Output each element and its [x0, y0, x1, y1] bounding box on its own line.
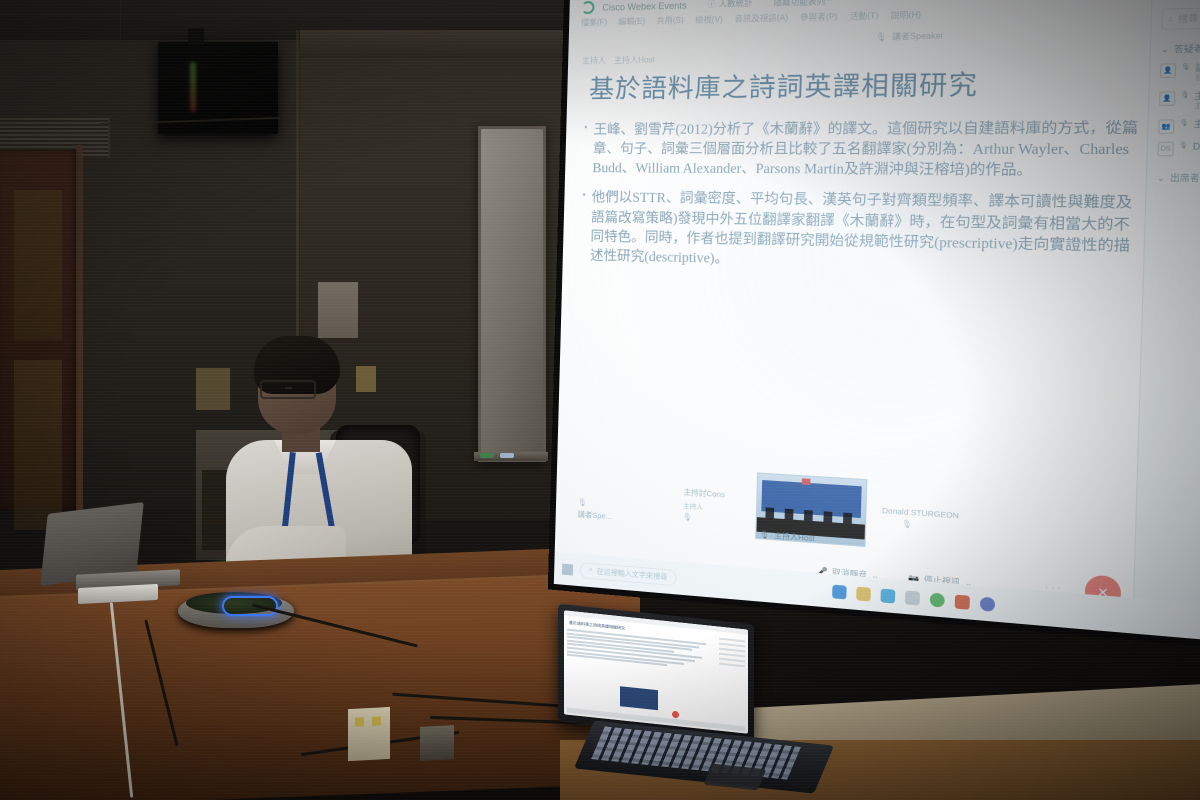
thumb-mic-icon: 🎙 — [682, 512, 724, 524]
participant-search-placeholder: 搜尋 — [1178, 12, 1198, 25]
wall-power-socket[interactable] — [348, 707, 390, 761]
participant-row-host[interactable]: 👥 🎙 主持人Host — [1158, 119, 1200, 134]
powerpoint-icon[interactable] — [955, 594, 970, 609]
host-name: 主持人Host — [614, 54, 655, 66]
webex-host-line: 主持人 主持人Host — [582, 54, 655, 66]
menu-share[interactable]: 共用(S) — [656, 15, 684, 27]
presentation-slide: 基於語料庫之詩詞英譯相關研究 • 王峰、劉雪芹(2012)分析了《木蘭辭》的譯文… — [573, 61, 1147, 504]
menu-event[interactable]: 活動(T) — [849, 10, 878, 22]
projection-screen: Cisco Webex Events ⓘ 人數統計 隱藏功能表列 ^ 檔案(F)… — [548, 0, 1200, 653]
attendees-label: 出席者 — [1170, 172, 1200, 185]
chrome-icon[interactable] — [930, 592, 945, 607]
door-panel-upper — [14, 190, 62, 340]
panelists-label: 答疑者 — [1174, 43, 1200, 56]
whiteboard-marker-blue[interactable] — [500, 453, 514, 458]
person-icon: 👤 — [1160, 63, 1176, 78]
foreground-laptop[interactable]: 基於語料庫之詩詞英譯相關研究 — [558, 614, 878, 784]
participant-row-cons[interactable]: 👤 🎙 主持討Cons 主持人 — [1159, 90, 1200, 111]
mic-icon: 🎙 — [1179, 120, 1189, 128]
socket-hole-left — [355, 717, 364, 726]
webex-app-title: Cisco Webex Events — [602, 0, 686, 12]
search-icon: ⌕ — [1168, 13, 1174, 24]
video-thumb-cons-label: 主持討Cons — [683, 486, 725, 500]
webex-hide-menubar-chip[interactable]: 隱藏功能表列 ^ — [773, 0, 832, 8]
projected-webex-window: Cisco Webex Events ⓘ 人數統計 隱藏功能表列 ^ 檔案(F)… — [554, 0, 1200, 646]
webex-active-speaker-chip: 🎙 講者Speaker — [875, 30, 944, 43]
mic-icon: 🎙 — [1180, 91, 1190, 99]
participant-search-box[interactable]: ⌕ 搜尋 — [1161, 6, 1200, 30]
menu-help[interactable]: 說明(H) — [891, 9, 922, 21]
menu-audio-video[interactable]: 音訊及視訊(A) — [734, 12, 788, 25]
host-label: 主持人 — [582, 55, 606, 66]
thumb-mic-icon: 🎙 — [902, 519, 959, 533]
slide-bullet-2: • 他們以STTR、詞彙密度、平均句長、漢英句子對齊類型頻率、譯本可讀性與難度及… — [580, 188, 1143, 278]
mic-icon: 🎙 — [1181, 63, 1191, 71]
laptop-mirrored-webex: 基於語料庫之詩詞英譯相關研究 — [564, 610, 748, 733]
edge-icon[interactable] — [832, 584, 847, 599]
slide-bullet-2-text: 他們以STTR、詞彙密度、平均句長、漢英句子對齊類型頻率、譯本可讀性與難度及語篇… — [590, 188, 1143, 278]
webex-logo-icon — [581, 1, 594, 14]
slide-bullet-1: • 王峰、劉雪芹(2012)分析了《木蘭辭》的譯文。這個研究以自建語料庫的方式，… — [583, 117, 1145, 181]
taskbar-search-input[interactable]: ⌕ 在這裡輸入文字來搜尋 — [580, 562, 677, 586]
room-door[interactable] — [0, 150, 78, 510]
video-thumb-donald-label: Donald STURGEON — [882, 506, 959, 521]
video-thumb-cons-sub: 主持人 — [683, 500, 725, 513]
speaker-name: 講者Speaker — [892, 30, 944, 43]
participant-row-donald[interactable]: DS 🎙 Donald STURGEON — [1157, 142, 1200, 157]
participant-name: 講者Speaker — [1195, 62, 1200, 73]
chevron-down-icon: ⌄ — [1157, 173, 1166, 183]
participant-sub: 我 — [1195, 74, 1200, 84]
whiteboard — [478, 126, 546, 462]
file-explorer-icon[interactable] — [856, 586, 871, 601]
participant-row-speaker[interactable]: 👤 🎙 講者Speaker 我 — [1160, 62, 1200, 84]
mail-icon[interactable] — [880, 588, 895, 603]
video-thumb-donald[interactable]: Donald STURGEON 🎙 — [882, 506, 960, 533]
person-icon: 👥 — [1158, 120, 1174, 135]
bullet-dot-icon: • — [580, 188, 586, 265]
participant-sub: 主持人 — [1194, 102, 1200, 112]
taskbar-pinned-apps — [832, 584, 995, 611]
mic-icon: 🎙 — [875, 32, 887, 42]
screenshot-root: 基於語料庫之詩詞英譯相關研究 — [0, 0, 1200, 800]
thumb-mic-icon: 🎙 — [578, 498, 613, 509]
ceiling-seam — [0, 14, 620, 15]
laptop-participant-rail — [719, 635, 745, 671]
slide-bullet-1-text: 王峰、劉雪芹(2012)分析了《木蘭辭》的譯文。這個研究以自建語料庫的方式，從篇… — [592, 117, 1145, 181]
slide-title: 基於語料庫之詩詞英譯相關研究 — [589, 61, 1147, 105]
socket-hole-right — [372, 716, 381, 725]
laptop-leave-button — [672, 711, 679, 719]
wall-soffit — [300, 30, 600, 58]
mic-icon: 🎙 — [1179, 142, 1189, 150]
wall-notice-sheet — [318, 282, 358, 338]
video-thumb-speaker[interactable]: 🎙 講者Spe... — [577, 498, 612, 523]
menu-edit[interactable]: 編輯(E) — [618, 16, 645, 28]
participant-name: 主持討Cons — [1194, 91, 1200, 102]
bullet-dot-icon: • — [583, 120, 588, 178]
video-thumb-cons[interactable]: 主持討Cons 主持人 🎙 — [682, 486, 725, 524]
laptop-video-thumb — [620, 686, 658, 710]
thumb-mic-icon: 🎙 — [759, 530, 769, 540]
webex-app: Cisco Webex Events ⓘ 人數統計 隱藏功能表列 ^ 檔案(F)… — [554, 0, 1200, 646]
search-icon: ⌕ — [589, 567, 593, 575]
teams-icon[interactable] — [980, 596, 995, 611]
store-icon[interactable] — [905, 590, 920, 605]
panelists-section-header[interactable]: ⌄ 答疑者 ： 4 — [1161, 41, 1200, 56]
speakerphone-led-ring — [222, 596, 278, 616]
attendees-section-header[interactable]: ⌄ 出席者 ： 27 （靜下 0） — [1157, 172, 1200, 185]
panel-footer-note: 使用內容 — [1156, 207, 1200, 220]
windows-start-icon[interactable] — [562, 563, 573, 575]
network-jack[interactable] — [420, 725, 454, 761]
chevron-down-icon: ⌄ — [1161, 44, 1170, 54]
door-panel-lower — [14, 360, 62, 530]
wall-poster-left — [196, 368, 230, 410]
presenter-glasses — [260, 380, 316, 399]
video-thumb-host-label: 主持人Host — [774, 530, 815, 544]
webex-stats-chip[interactable]: ⓘ 人數統計 — [707, 0, 752, 10]
participant-name: Donald STURGEON — [1193, 142, 1200, 153]
foreground-laptop-screen[interactable]: 基於語料庫之詩詞英譯相關研究 — [564, 610, 748, 733]
initials-avatar: DS — [1157, 142, 1173, 157]
podium-front-panel — [0, 573, 640, 800]
menu-file[interactable]: 檔案(F) — [581, 17, 607, 29]
info-icon: ⓘ — [707, 0, 716, 10]
projector-lamp-glow — [190, 62, 196, 112]
participant-name: 主持人Host — [1193, 119, 1200, 130]
whiteboard-marker-green[interactable] — [480, 453, 494, 458]
menu-participant[interactable]: 參與者(P) — [800, 11, 838, 23]
taskbar-search-placeholder: 在這裡輸入文字來搜尋 — [597, 566, 668, 582]
door-frame — [76, 145, 83, 515]
projection-screen-frame: Cisco Webex Events ⓘ 人數統計 隱藏功能表列 ^ 檔案(F)… — [548, 0, 1200, 653]
person-icon: 👤 — [1159, 91, 1175, 106]
video-thumb-speaker-label: 講者Spe... — [577, 509, 612, 523]
menu-view[interactable]: 檢視(V) — [695, 14, 723, 26]
